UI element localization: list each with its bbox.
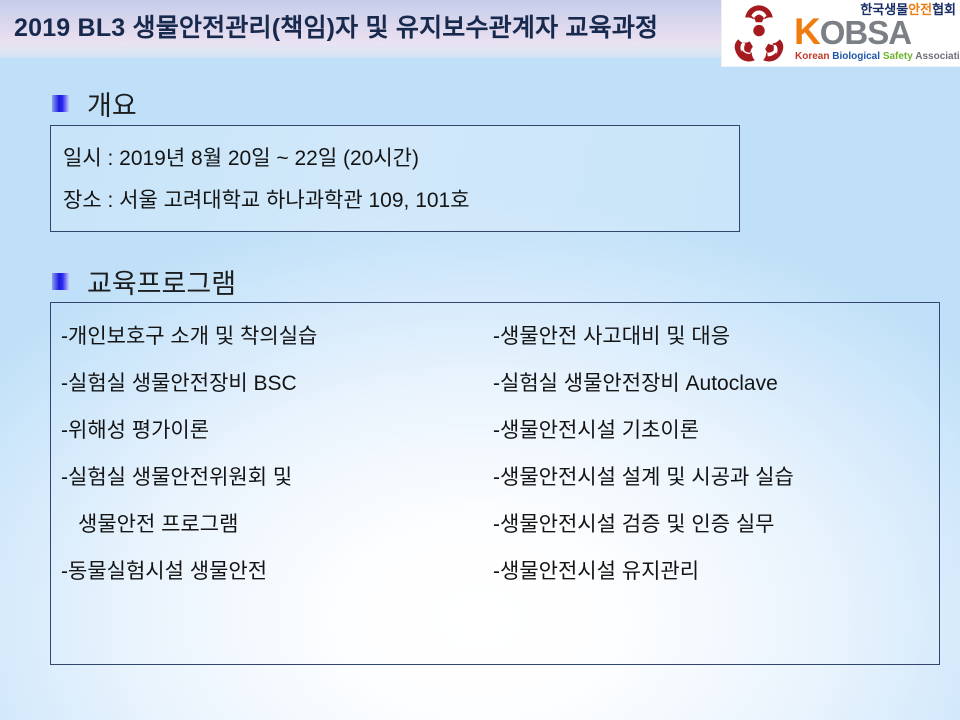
- program-right-column: -생물안전 사고대비 및 대응-실험실 생물안전장비 Autoclave-생물안…: [493, 313, 933, 595]
- program-item: -위해성 평가이론: [61, 407, 491, 454]
- program-item: -생물안전시설 검증 및 인증 실무: [493, 501, 933, 548]
- biohazard-icon: [726, 3, 792, 63]
- logo-kobsa-text: KOBSA: [794, 15, 911, 49]
- program-item: -생물안전시설 유지관리: [493, 548, 933, 595]
- logo-letters-obsa: OBSA: [820, 14, 911, 51]
- tagline-association: Association: [915, 51, 960, 62]
- program-item: 생물안전 프로그램: [61, 501, 491, 548]
- info-line-date: 일시 : 2019년 8월 20일 ~ 22일 (20시간): [63, 142, 419, 172]
- program-item: -생물안전 사고대비 및 대응: [493, 313, 933, 360]
- program-item: -실험실 생물안전위원회 및: [61, 454, 491, 501]
- tagline-safety: Safety: [883, 51, 913, 62]
- square-bullet-icon: [52, 95, 69, 112]
- program-item: -개인보호구 소개 및 착의실습: [61, 313, 491, 360]
- slide-canvas: 2019 BL3 생물안전관리(책임)자 및 유지보수관계자 교육과정 한국생물…: [0, 0, 960, 720]
- logo-korean-part3: 협회: [932, 2, 956, 17]
- program-item: -실험실 생물안전장비 BSC: [61, 360, 491, 407]
- heading-overview-label: 개요: [87, 84, 137, 123]
- program-item: -동물실험시설 생물안전: [61, 548, 491, 595]
- heading-program: 교육프로그램: [52, 262, 236, 301]
- square-bullet-icon: [52, 273, 69, 290]
- info-line-venue: 장소 : 서울 고려대학교 하나과학관 109, 101호: [63, 184, 470, 214]
- logo-wordmark: 한국생물안전협회 KOBSA Korean Biological Safety …: [794, 2, 958, 64]
- overview-info-box: 일시 : 2019년 8월 20일 ~ 22일 (20시간) 장소 : 서울 고…: [50, 125, 740, 232]
- program-left-column: -개인보호구 소개 및 착의실습-실험실 생물안전장비 BSC-위해성 평가이론…: [61, 313, 491, 595]
- program-item: -실험실 생물안전장비 Autoclave: [493, 360, 933, 407]
- tagline-biological: Biological: [832, 51, 880, 62]
- page-title: 2019 BL3 생물안전관리(책임)자 및 유지보수관계자 교육과정: [14, 9, 714, 47]
- tagline-korean: Korean: [795, 51, 829, 62]
- logo-letter-k: K: [794, 11, 820, 52]
- kobsa-logo: 한국생물안전협회 KOBSA Korean Biological Safety …: [722, 0, 960, 66]
- logo-tagline: Korean Biological Safety Association: [795, 51, 960, 62]
- heading-overview: 개요: [52, 84, 137, 123]
- program-box: -개인보호구 소개 및 착의실습-실험실 생물안전장비 BSC-위해성 평가이론…: [50, 302, 940, 665]
- logo-korean-part2: 안전: [908, 2, 932, 17]
- program-item: -생물안전시설 기초이론: [493, 407, 933, 454]
- heading-program-label: 교육프로그램: [87, 262, 236, 301]
- program-item: -생물안전시설 설계 및 시공과 실습: [493, 454, 933, 501]
